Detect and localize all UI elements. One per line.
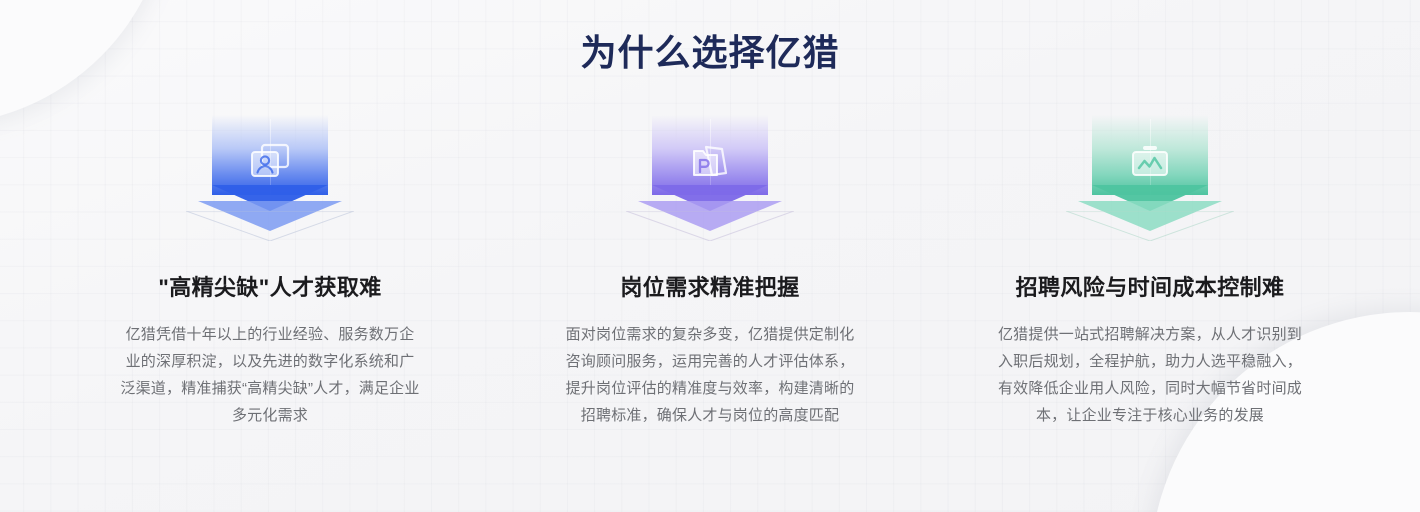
icon-plate-outline bbox=[1066, 211, 1234, 241]
card-description: 面对岗位需求的复杂多变，亿猎提供定制化咨询顾问服务，运用完善的人才评估体系，提升… bbox=[560, 321, 860, 429]
card-description: 亿猎凭借十年以上的行业经验、服务数万企业的深厚积淀，以及先进的数字化系统和广泛渠… bbox=[120, 321, 420, 429]
feature-card[interactable]: 岗位需求精准把握 面对岗位需求的复杂多变，亿猎提供定制化咨询顾问服务，运用完善的… bbox=[500, 113, 920, 429]
card-title: 招聘风险与时间成本控制难 bbox=[1016, 273, 1285, 303]
person-glyph bbox=[248, 143, 292, 183]
card-title: "高精尖缺"人才获取难 bbox=[158, 273, 381, 303]
folder-p-icon bbox=[622, 113, 798, 241]
feature-card[interactable]: "高精尖缺"人才获取难 亿猎凭借十年以上的行业经验、服务数万企业的深厚积淀，以及… bbox=[60, 113, 480, 429]
page-title: 为什么选择亿猎 bbox=[0, 30, 1420, 77]
briefcase-chart-icon bbox=[1062, 113, 1238, 241]
folder-glyph bbox=[688, 143, 732, 183]
icon-plate-outline bbox=[626, 211, 794, 241]
feature-card[interactable]: 招聘风险与时间成本控制难 亿猎提供一站式招聘解决方案，从人才识别到入职后规划，全… bbox=[940, 113, 1360, 429]
briefcase-glyph bbox=[1128, 143, 1172, 183]
why-choose-section: 为什么选择亿猎 bbox=[0, 0, 1420, 512]
card-title: 岗位需求精准把握 bbox=[620, 273, 799, 303]
icon-plate-outline bbox=[186, 211, 354, 241]
person-card-icon bbox=[182, 113, 358, 241]
card-description: 亿猎提供一站式招聘解决方案，从人才识别到入职后规划，全程护航，助力人选平稳融入，… bbox=[995, 321, 1305, 429]
feature-card-list: "高精尖缺"人才获取难 亿猎凭借十年以上的行业经验、服务数万企业的深厚积淀，以及… bbox=[0, 113, 1420, 429]
